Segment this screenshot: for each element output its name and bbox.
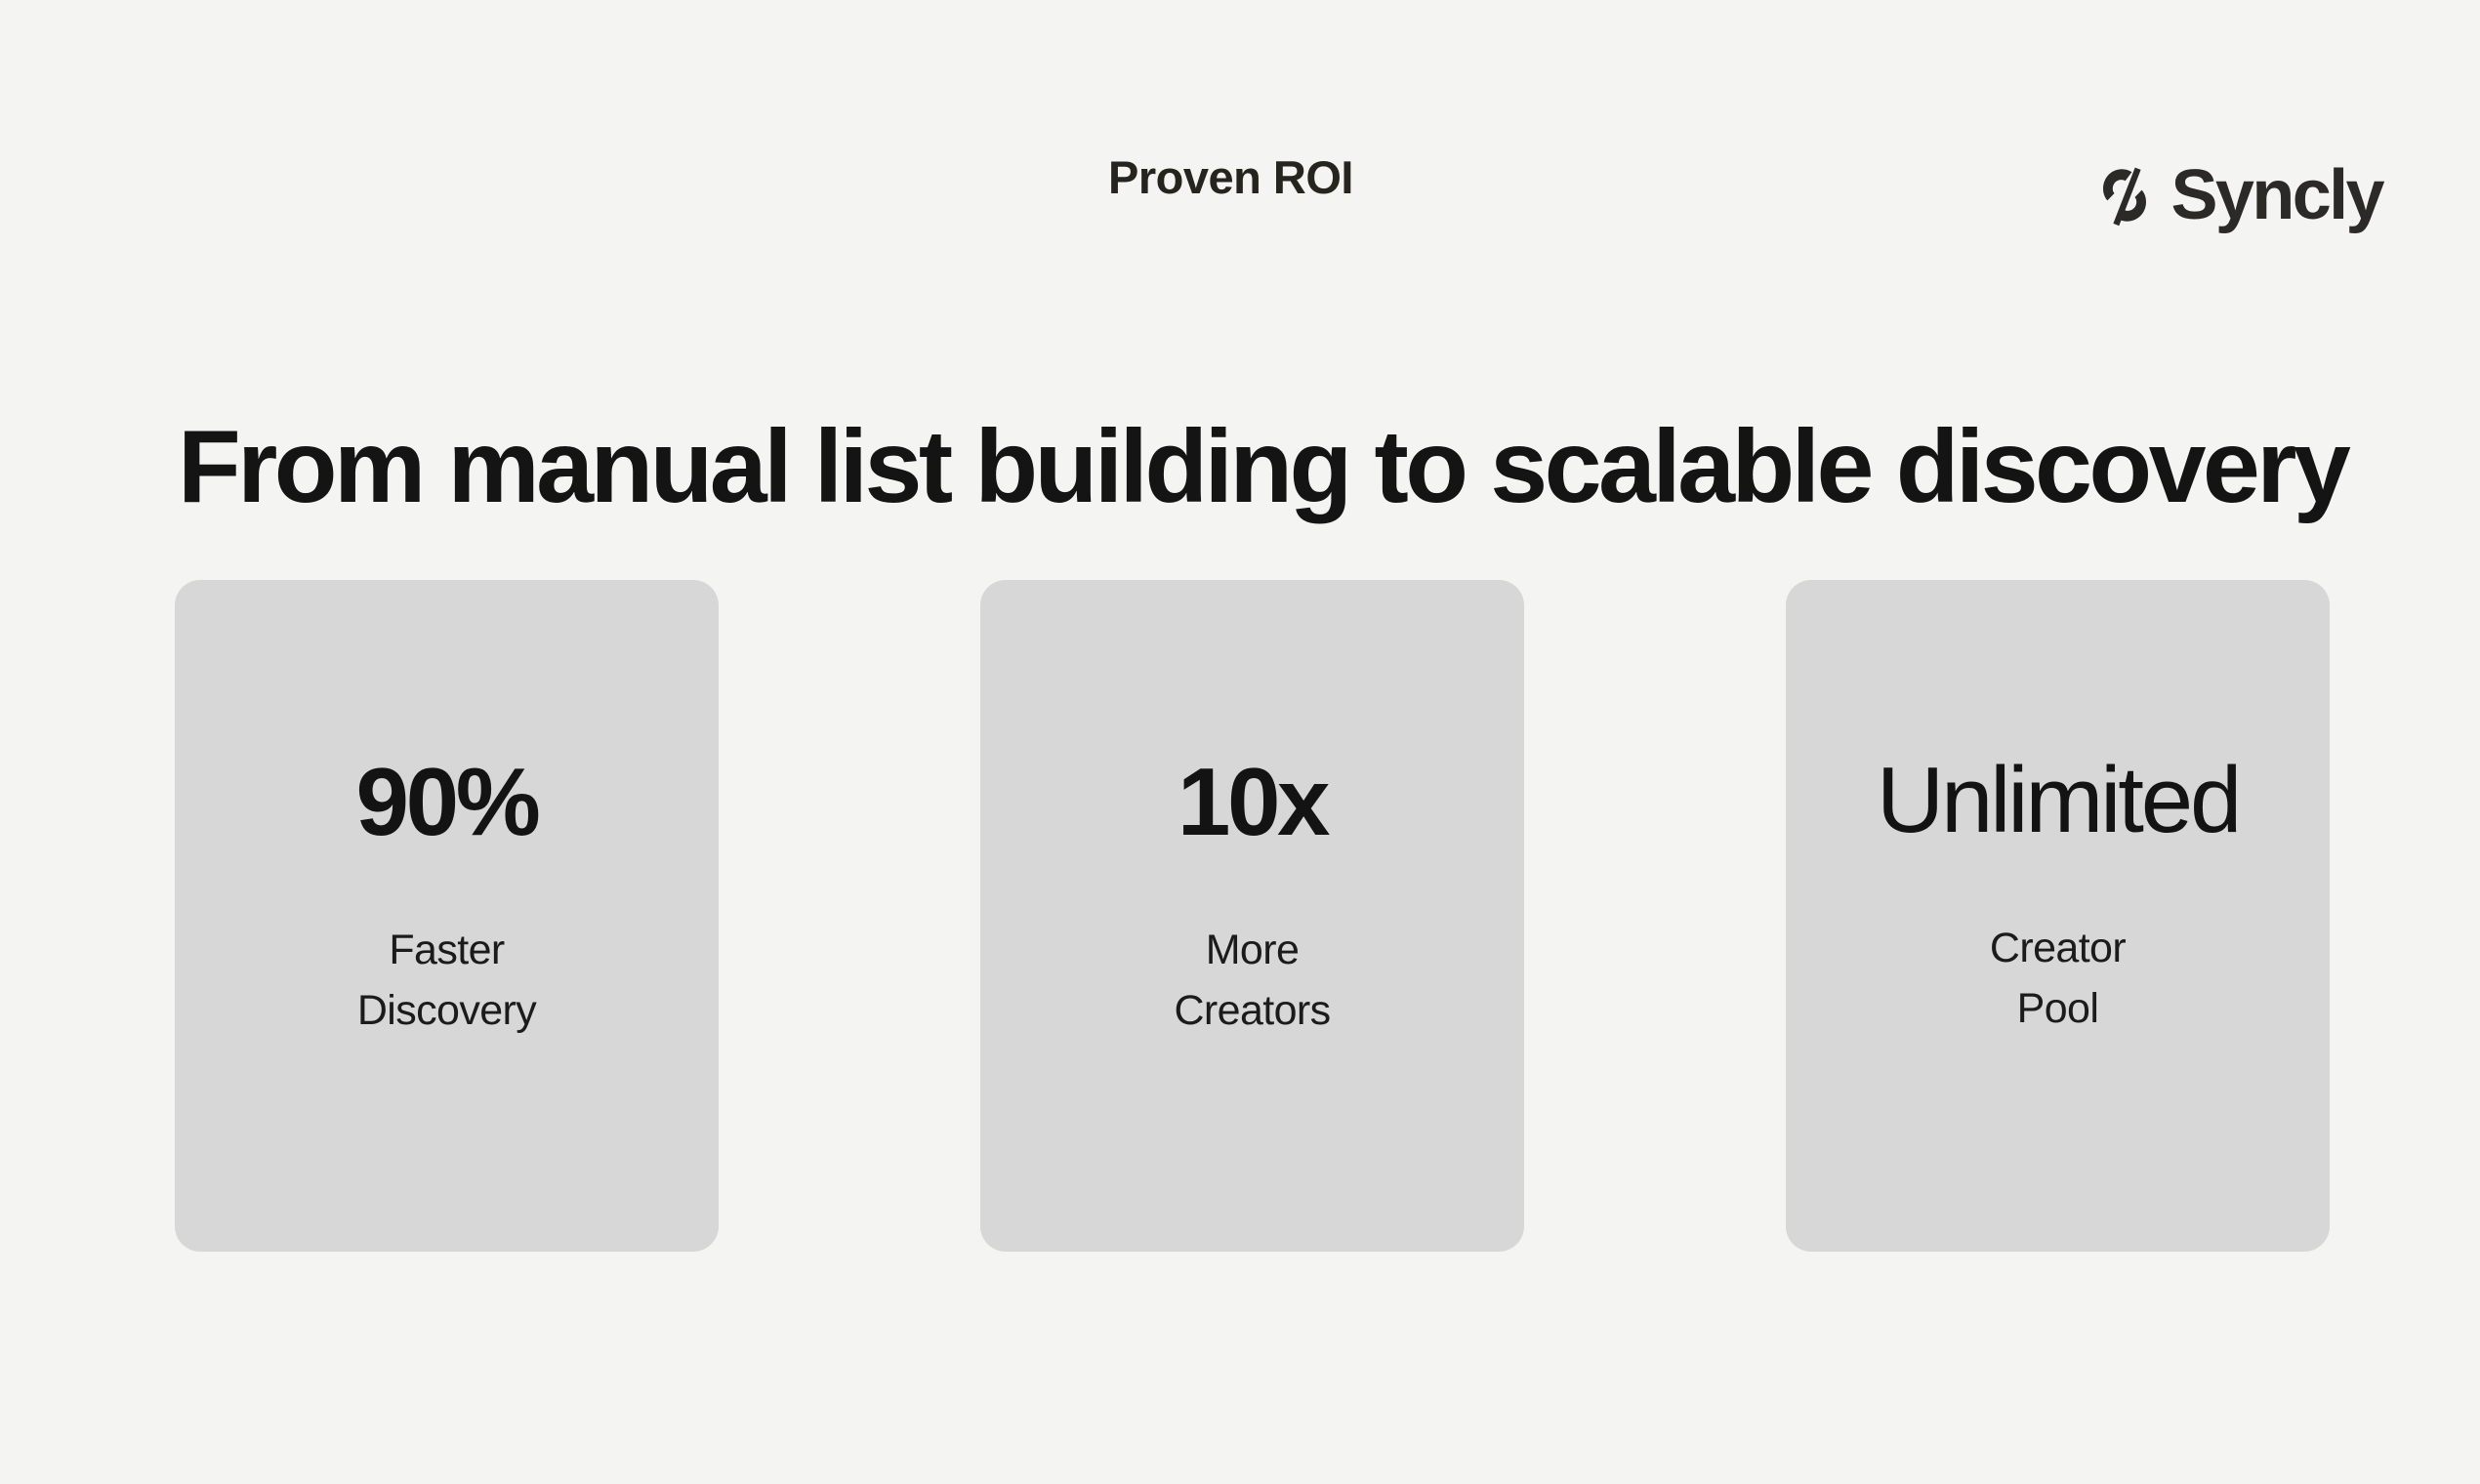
stat-card-creator-pool: Unlimited Creator Pool xyxy=(1786,580,2330,1252)
stat-label: Faster Discovery xyxy=(198,920,695,1042)
eyebrow-label: Proven ROI xyxy=(1108,154,1353,200)
stat-label-line-1: More xyxy=(1004,920,1501,980)
stat-label-line-1: Creator xyxy=(1809,918,2306,978)
stat-label-line-2: Discovery xyxy=(198,980,695,1041)
stat-card-content: Unlimited Creator Pool xyxy=(1786,754,2330,1040)
slide-root: Proven ROI Syncly From manual list build… xyxy=(0,0,2480,1484)
stat-label-line-2: Pool xyxy=(1809,978,2306,1039)
syncly-s-mark-icon xyxy=(2094,163,2155,227)
stat-label-line-1: Faster xyxy=(198,920,695,980)
stat-card-content: 10x More Creators xyxy=(980,754,1524,1042)
stat-value: 10x xyxy=(1004,754,1501,849)
stat-label: Creator Pool xyxy=(1809,918,2306,1040)
stat-card-more-creators: 10x More Creators xyxy=(980,580,1524,1252)
stat-value: Unlimited xyxy=(1809,754,2306,847)
stat-value: 90% xyxy=(198,754,695,849)
stat-label-line-2: Creators xyxy=(1004,980,1501,1041)
brand-logo: Syncly xyxy=(2094,156,2382,234)
brand-name: Syncly xyxy=(2170,160,2382,230)
stat-card-faster-discovery: 90% Faster Discovery xyxy=(175,580,719,1252)
stats-card-row: 90% Faster Discovery 10x More Creators U… xyxy=(175,580,2330,1252)
page-title: From manual list building to scalable di… xyxy=(178,413,2345,520)
stat-label: More Creators xyxy=(1004,920,1501,1042)
stat-card-content: 90% Faster Discovery xyxy=(175,754,719,1042)
